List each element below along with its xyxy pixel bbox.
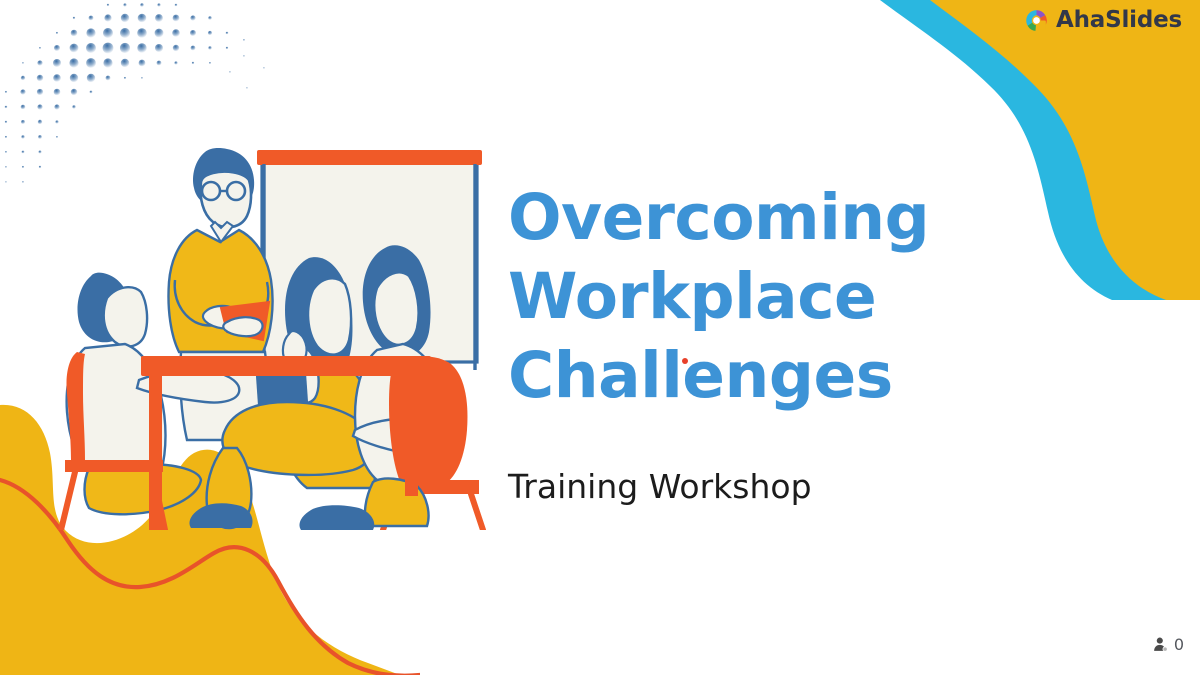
presentation-slide: Overcoming Workplace Challenges Training…	[0, 0, 1200, 675]
right-person-face	[374, 272, 418, 344]
slide-text-block: Overcoming Workplace Challenges Training…	[508, 178, 1108, 507]
right-person-shoe	[299, 505, 374, 530]
flipchart-top-bar	[257, 150, 482, 165]
red-dot-marker	[682, 358, 688, 364]
person-icon	[1152, 636, 1169, 653]
table-leg-left	[149, 376, 162, 530]
left-person-chair-back	[66, 352, 85, 460]
viewer-count-value: 0	[1174, 637, 1184, 653]
left-person-face	[104, 287, 147, 346]
left-chair-leg-1	[61, 472, 75, 530]
workshop-meeting-illustration	[55, 130, 495, 530]
page-title: Overcoming Workplace Challenges	[508, 178, 1108, 415]
brand-logo[interactable]: AhaSlides	[1024, 8, 1182, 33]
viewer-counter[interactable]: 0	[1152, 636, 1184, 653]
left-person-chair-seat	[65, 460, 163, 472]
slide-subtitle: Training Workshop	[508, 415, 1108, 507]
center-person-face	[308, 278, 351, 354]
table-leg-right	[405, 376, 418, 496]
aperture-logo-icon	[1024, 8, 1049, 33]
brand-name: AhaSlides	[1056, 9, 1182, 32]
presenter-right-hand	[223, 317, 262, 336]
right-chair-leg-2	[471, 494, 483, 530]
table-top	[141, 356, 431, 376]
